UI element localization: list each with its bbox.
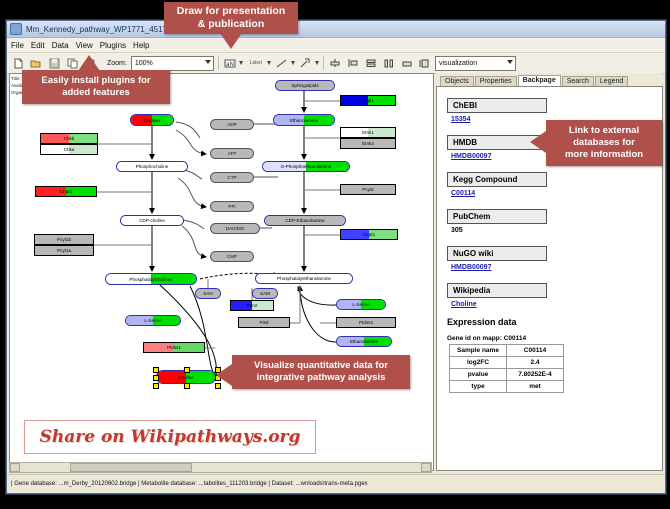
pathway-node-pcyt2[interactable]: Pcyt2 <box>340 184 396 195</box>
cofactor-node-atp[interactable]: ATP <box>210 148 254 159</box>
cofactor-node-dag-mg[interactable]: DAG/MG <box>210 223 260 234</box>
callout-visualize-arrow-icon <box>216 364 232 386</box>
cofactor-node-adp[interactable]: ADP <box>210 119 254 130</box>
node-label: Phosphatidylcholines <box>106 274 196 284</box>
callout-draw: Draw for presentation & publication <box>164 2 298 34</box>
zoom-value: 100% <box>135 60 153 67</box>
table-cell-value: met <box>507 381 564 393</box>
common-height-icon[interactable] <box>418 56 432 70</box>
node-label: CDP-choline <box>121 216 183 225</box>
pathway-node-sam[interactable]: SAM <box>252 288 278 299</box>
selection-handle[interactable] <box>184 367 190 373</box>
line-icon[interactable] <box>275 56 289 70</box>
table-cell-key: log2FC <box>450 357 507 369</box>
backpage-value-wikipedia[interactable]: Choline <box>451 301 652 308</box>
selection-handle[interactable] <box>153 383 159 389</box>
menu-item-data[interactable]: Data <box>52 41 69 50</box>
scroll-thumb[interactable] <box>70 463 192 472</box>
backpage-header-kegg-compound: Kegg Compound <box>447 172 547 187</box>
label-icon[interactable]: Label <box>247 56 265 70</box>
node-label: Chkb <box>41 134 97 143</box>
receptor-line-icon[interactable] <box>299 56 313 70</box>
tab-backpage[interactable]: Backpage <box>518 75 561 86</box>
node-label: Chka <box>41 145 97 154</box>
node-label: SAH <box>196 289 220 298</box>
table-cell-value: 7.80252E-4 <box>507 369 564 381</box>
common-width-icon[interactable] <box>400 56 414 70</box>
backpage-header-chebi: ChEBI <box>447 98 547 113</box>
pathway-node-l-serine[interactable]: L-Serine <box>125 315 181 326</box>
chevron-down-icon-2 <box>507 60 513 64</box>
callout-link: Link to external databases for more info… <box>546 120 662 166</box>
tab-search[interactable]: Search <box>562 76 594 86</box>
zoom-label: Zoom: <box>107 60 127 67</box>
pathway-node-ethanolamine[interactable]: Ethanolamine <box>273 114 335 126</box>
app-icon <box>10 23 22 35</box>
pathway-node-ptdss1[interactable]: Ptdss1 <box>143 342 205 353</box>
pathway-node-chkb[interactable]: Chkb <box>40 133 98 144</box>
toolbar-separator-2 <box>323 56 324 70</box>
pathway-node-pcyt1a[interactable]: Pcyt1a <box>34 245 94 256</box>
callout-plugins: Easily install plugins for added feature… <box>22 70 170 104</box>
pathway-node-cdp-ethanolamine[interactable]: CDP-Ethanolamine <box>264 215 346 226</box>
datanode-dropdown-icon[interactable] <box>239 61 243 65</box>
selection-handle[interactable] <box>153 367 159 373</box>
node-label: Etnk2 <box>341 139 395 148</box>
stack-center-icon[interactable] <box>382 56 396 70</box>
tab-objects[interactable]: Objects <box>440 76 474 86</box>
sidebar-tabs: Objects Properties Backpage Search Legen… <box>436 73 663 87</box>
pathway-node-chka[interactable]: Chka <box>40 144 98 155</box>
node-label: Pcyt1a <box>35 246 93 255</box>
visualization-value: visualization <box>439 60 477 67</box>
new-file-icon[interactable] <box>11 56 25 70</box>
zoom-combo[interactable]: 100% <box>131 56 214 71</box>
node-label: Ethanolamine <box>337 337 391 346</box>
menu-item-help[interactable]: Help <box>133 41 149 50</box>
scroll-right-icon[interactable] <box>421 463 431 472</box>
svg-text:aN: aN <box>226 62 234 68</box>
align-top-icon[interactable] <box>328 56 342 70</box>
pathway-node-phosphatidylethanolamine[interactable]: Phosphatidylethanolamine <box>255 273 353 284</box>
pathway-node-o-phosphoethanolamine[interactable]: O-Phosphoethanolamine <box>262 161 350 172</box>
table-cell-key: pvalue <box>450 369 507 381</box>
table-cell-value: 2.4 <box>507 357 564 369</box>
visualization-combo[interactable]: visualization <box>435 56 516 71</box>
title-bar: Mm_Kennedy_pathway_WP1771_45176.gpml <box>7 21 665 38</box>
table-cell-key: type <box>450 381 507 393</box>
selection-handle[interactable] <box>153 375 159 381</box>
backpage-header-nugo-wiki: NuGO wiki <box>447 246 547 261</box>
table-row: pvalue7.80252E-4 <box>450 369 564 381</box>
pathway-node-choline[interactable]: Choline <box>130 114 174 126</box>
node-label: L-Serine <box>126 316 180 325</box>
table-cell-value: C00114 <box>507 345 564 357</box>
screenshot-root: Mm_Kennedy_pathway_WP1771_45176.gpml Fil… <box>0 0 670 509</box>
pathway-node-phosphatidylcholines[interactable]: Phosphatidylcholines <box>105 273 197 285</box>
backpage-value-kegg-compound[interactable]: C00114 <box>451 190 652 197</box>
scroll-left-icon[interactable] <box>10 463 20 472</box>
node-label: Choline <box>131 115 173 125</box>
pathway-node-etnk1[interactable]: Etnk1 <box>340 127 396 138</box>
callout-link-arrow-icon <box>530 131 546 153</box>
backpage-value-pubchem: 305 <box>451 227 652 234</box>
tab-properties[interactable]: Properties <box>475 76 517 86</box>
callout-plugins-arrow-icon <box>78 55 100 71</box>
status-text: | Gene database: ...m_Derby_20120602.bri… <box>7 481 368 487</box>
pathway-node-cdp-choline[interactable]: CDP-choline <box>120 215 184 226</box>
node-label: Sphingolipids <box>276 81 334 90</box>
menu-item-view[interactable]: View <box>76 41 93 50</box>
table-row: Sample nameC00114 <box>450 345 564 357</box>
copy-icon[interactable] <box>65 56 79 70</box>
node-label: Pemt <box>231 301 273 310</box>
callout-visualize: Visualize quantitative data for integrat… <box>232 355 410 389</box>
menu-item-file[interactable]: File <box>11 41 24 50</box>
pathway-node-cept1[interactable]: Cept1 <box>340 229 398 240</box>
pathway-node-ptdss2[interactable]: Ptdss2 <box>336 317 396 328</box>
canvas-hscrollbar[interactable] <box>9 462 432 473</box>
label-dropdown-icon[interactable] <box>267 61 271 65</box>
node-label: Pcyt2 <box>341 185 395 194</box>
pathway-node-sphingolipids[interactable]: Sphingolipids <box>275 80 335 91</box>
callout-share: Share on Wikipathways.org <box>24 420 316 454</box>
backpage-header-pubchem: PubChem <box>447 209 547 224</box>
open-file-icon[interactable] <box>29 56 43 70</box>
pathway-node-etnk2[interactable]: Etnk2 <box>340 138 396 149</box>
pathway-node-sah[interactable]: SAH <box>195 288 221 299</box>
receptor-dropdown-icon[interactable] <box>315 61 319 65</box>
cofactor-node-cmp[interactable]: CMP <box>210 251 254 262</box>
pathway-node-ethanolamine[interactable]: Ethanolamine <box>336 336 392 347</box>
line-dropdown-icon[interactable] <box>291 61 295 65</box>
node-label: Phosphatidylethanolamine <box>256 274 352 283</box>
node-label: Ethanolamine <box>274 115 334 125</box>
cofactor-node-ctp[interactable]: CTP <box>210 172 254 183</box>
pathway-node-sgpl1[interactable]: Sgpl1 <box>340 95 396 106</box>
menu-item-edit[interactable]: Edit <box>31 41 45 50</box>
node-label: CDP-Ethanolamine <box>265 216 345 225</box>
pathway-node-pemt[interactable]: Pemt <box>230 300 274 311</box>
node-label: Sgpl1 <box>341 96 395 105</box>
table-row: typemet <box>450 381 564 393</box>
cofactor-node-ppi[interactable]: PPi <box>210 201 254 212</box>
tab-legend[interactable]: Legend <box>595 76 628 86</box>
save-file-icon[interactable] <box>47 56 61 70</box>
node-label: L-Serine <box>337 300 385 309</box>
stack-vertical-icon[interactable] <box>364 56 378 70</box>
status-bar: | Gene database: ...m_Derby_20120602.bri… <box>7 474 665 493</box>
share-text: Share on Wikipathways.org <box>40 427 301 447</box>
node-label: Chpt1 <box>36 187 96 196</box>
datanode-icon[interactable]: aN <box>223 56 237 70</box>
node-label: Ptdss1 <box>144 343 204 352</box>
pathway-node-pcyt1b[interactable]: Pcyt1b <box>34 234 94 245</box>
table-cell-key: Sample name <box>450 345 507 357</box>
node-label: SAM <box>253 289 277 298</box>
node-label: Cept1 <box>341 230 397 239</box>
node-label: Ptdss2 <box>337 318 395 327</box>
node-label: Etnk1 <box>341 128 395 137</box>
chevron-down-icon <box>205 60 211 64</box>
table-row: log2FC2.4 <box>450 357 564 369</box>
node-label: Phosphocholine <box>117 162 187 171</box>
node-label: O-Phosphoethanolamine <box>263 162 349 171</box>
gene-id-line: Gene id on mapp: C00114 <box>447 335 652 342</box>
toolbar-separator <box>218 56 219 70</box>
expression-table: Sample nameC00114log2FC2.4pvalue7.80252E… <box>449 344 564 393</box>
node-label: Pcyt1b <box>35 235 93 244</box>
pathway-canvas[interactable]: Title: Availa Organ <box>9 73 434 471</box>
align-left-icon[interactable] <box>346 56 360 70</box>
pathway-node-l-serine[interactable]: L-Serine <box>336 299 386 310</box>
pathway-node-pisd[interactable]: Pisd <box>238 317 290 328</box>
selection-handle[interactable] <box>184 383 190 389</box>
menu-bar: File Edit Data View Plugins Help <box>7 38 665 53</box>
node-label: Pisd <box>239 318 289 327</box>
expression-data-title: Expression data <box>447 317 652 327</box>
pathway-node-phosphocholine[interactable]: Phosphocholine <box>116 161 188 172</box>
backpage-value-nugo-wiki[interactable]: HMDB00097 <box>451 264 652 271</box>
backpage-header-wikipedia: Wikipedia <box>447 283 547 298</box>
pathway-node-chpt1[interactable]: Chpt1 <box>35 186 97 197</box>
callout-draw-arrow-icon <box>220 33 242 49</box>
menu-item-plugins[interactable]: Plugins <box>100 41 126 50</box>
